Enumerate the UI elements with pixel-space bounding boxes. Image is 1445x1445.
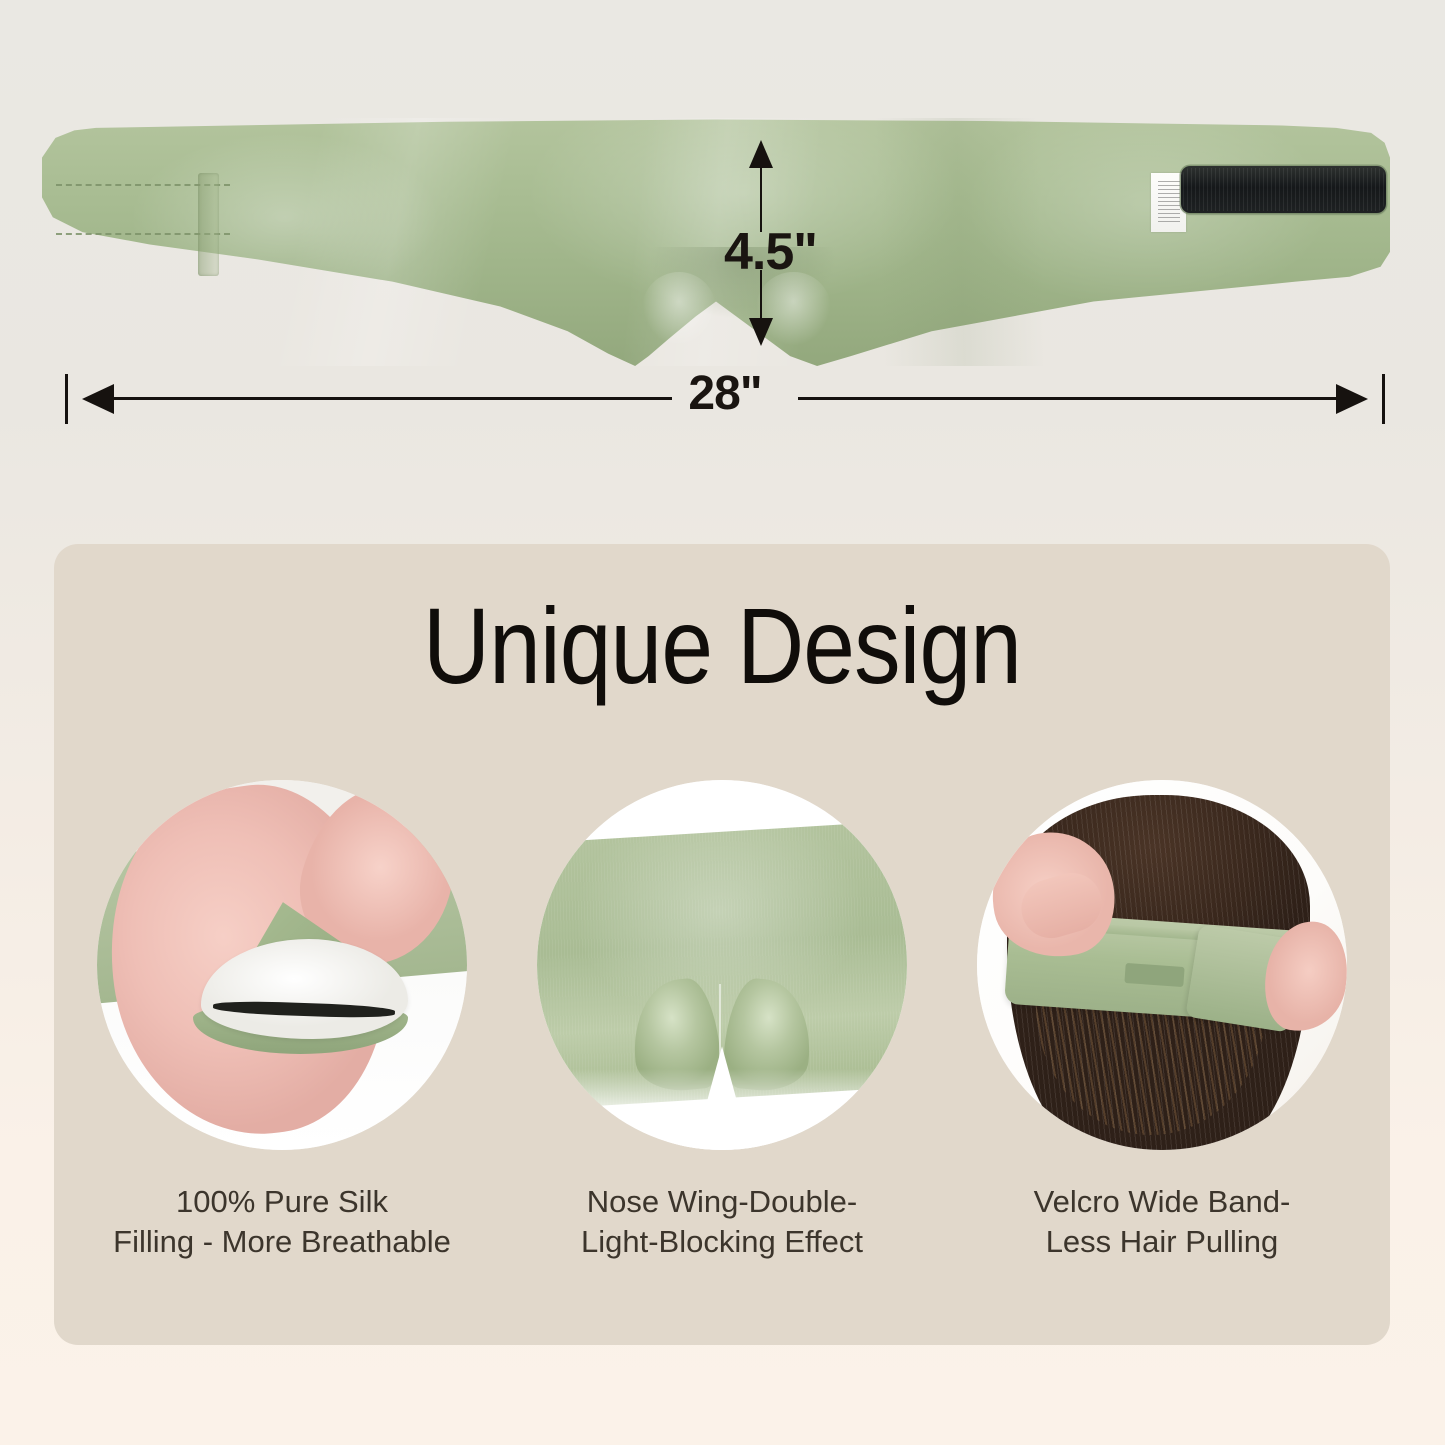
feature-velcro-band: Velcro Wide Band- Less Hair Pulling: [956, 780, 1368, 1263]
mask-band: [42, 118, 1390, 366]
feature-pure-silk-filling: 100% Pure Silk Filling - More Breathable: [76, 780, 488, 1263]
unique-design-panel: Unique Design 100% Pure Silk Filling - M…: [54, 544, 1390, 1345]
elastic-tab: [198, 173, 219, 277]
dimension-tick-right: [1382, 374, 1385, 424]
feature-caption: Nose Wing-Double- Light-Blocking Effect: [581, 1182, 863, 1263]
dimension-width: 28": [60, 368, 1390, 438]
feature-photo-velcro-band: [977, 780, 1347, 1150]
product-dimension-section: 4.5" 28": [0, 0, 1445, 520]
feature-photo-silk-filling: [97, 780, 467, 1150]
product-photo-eye-mask: [42, 118, 1390, 366]
elastic-stitch-zone: [49, 153, 238, 297]
feature-nose-wing: Nose Wing-Double- Light-Blocking Effect: [516, 780, 928, 1263]
nose-wing-seam: [719, 984, 721, 1058]
eye-mask-body: [42, 118, 1390, 366]
velcro-strap: [1181, 166, 1386, 213]
photo-bottom-fade: [537, 1069, 907, 1150]
arrow-down-icon: [749, 318, 773, 346]
feature-photo-nose-wing: [537, 780, 907, 1150]
dimension-line-right: [798, 397, 1338, 400]
arrow-right-icon: [1336, 384, 1368, 414]
dimension-height: 4.5": [744, 138, 884, 348]
dimension-width-label: 28": [60, 366, 1390, 421]
feature-caption: 100% Pure Silk Filling - More Breathable: [113, 1182, 451, 1263]
feature-caption: Velcro Wide Band- Less Hair Pulling: [1034, 1182, 1291, 1263]
dimension-height-label: 4.5": [724, 222, 817, 282]
feature-row: 100% Pure Silk Filling - More Breathable…: [76, 780, 1368, 1263]
panel-title: Unique Design: [148, 592, 1297, 700]
